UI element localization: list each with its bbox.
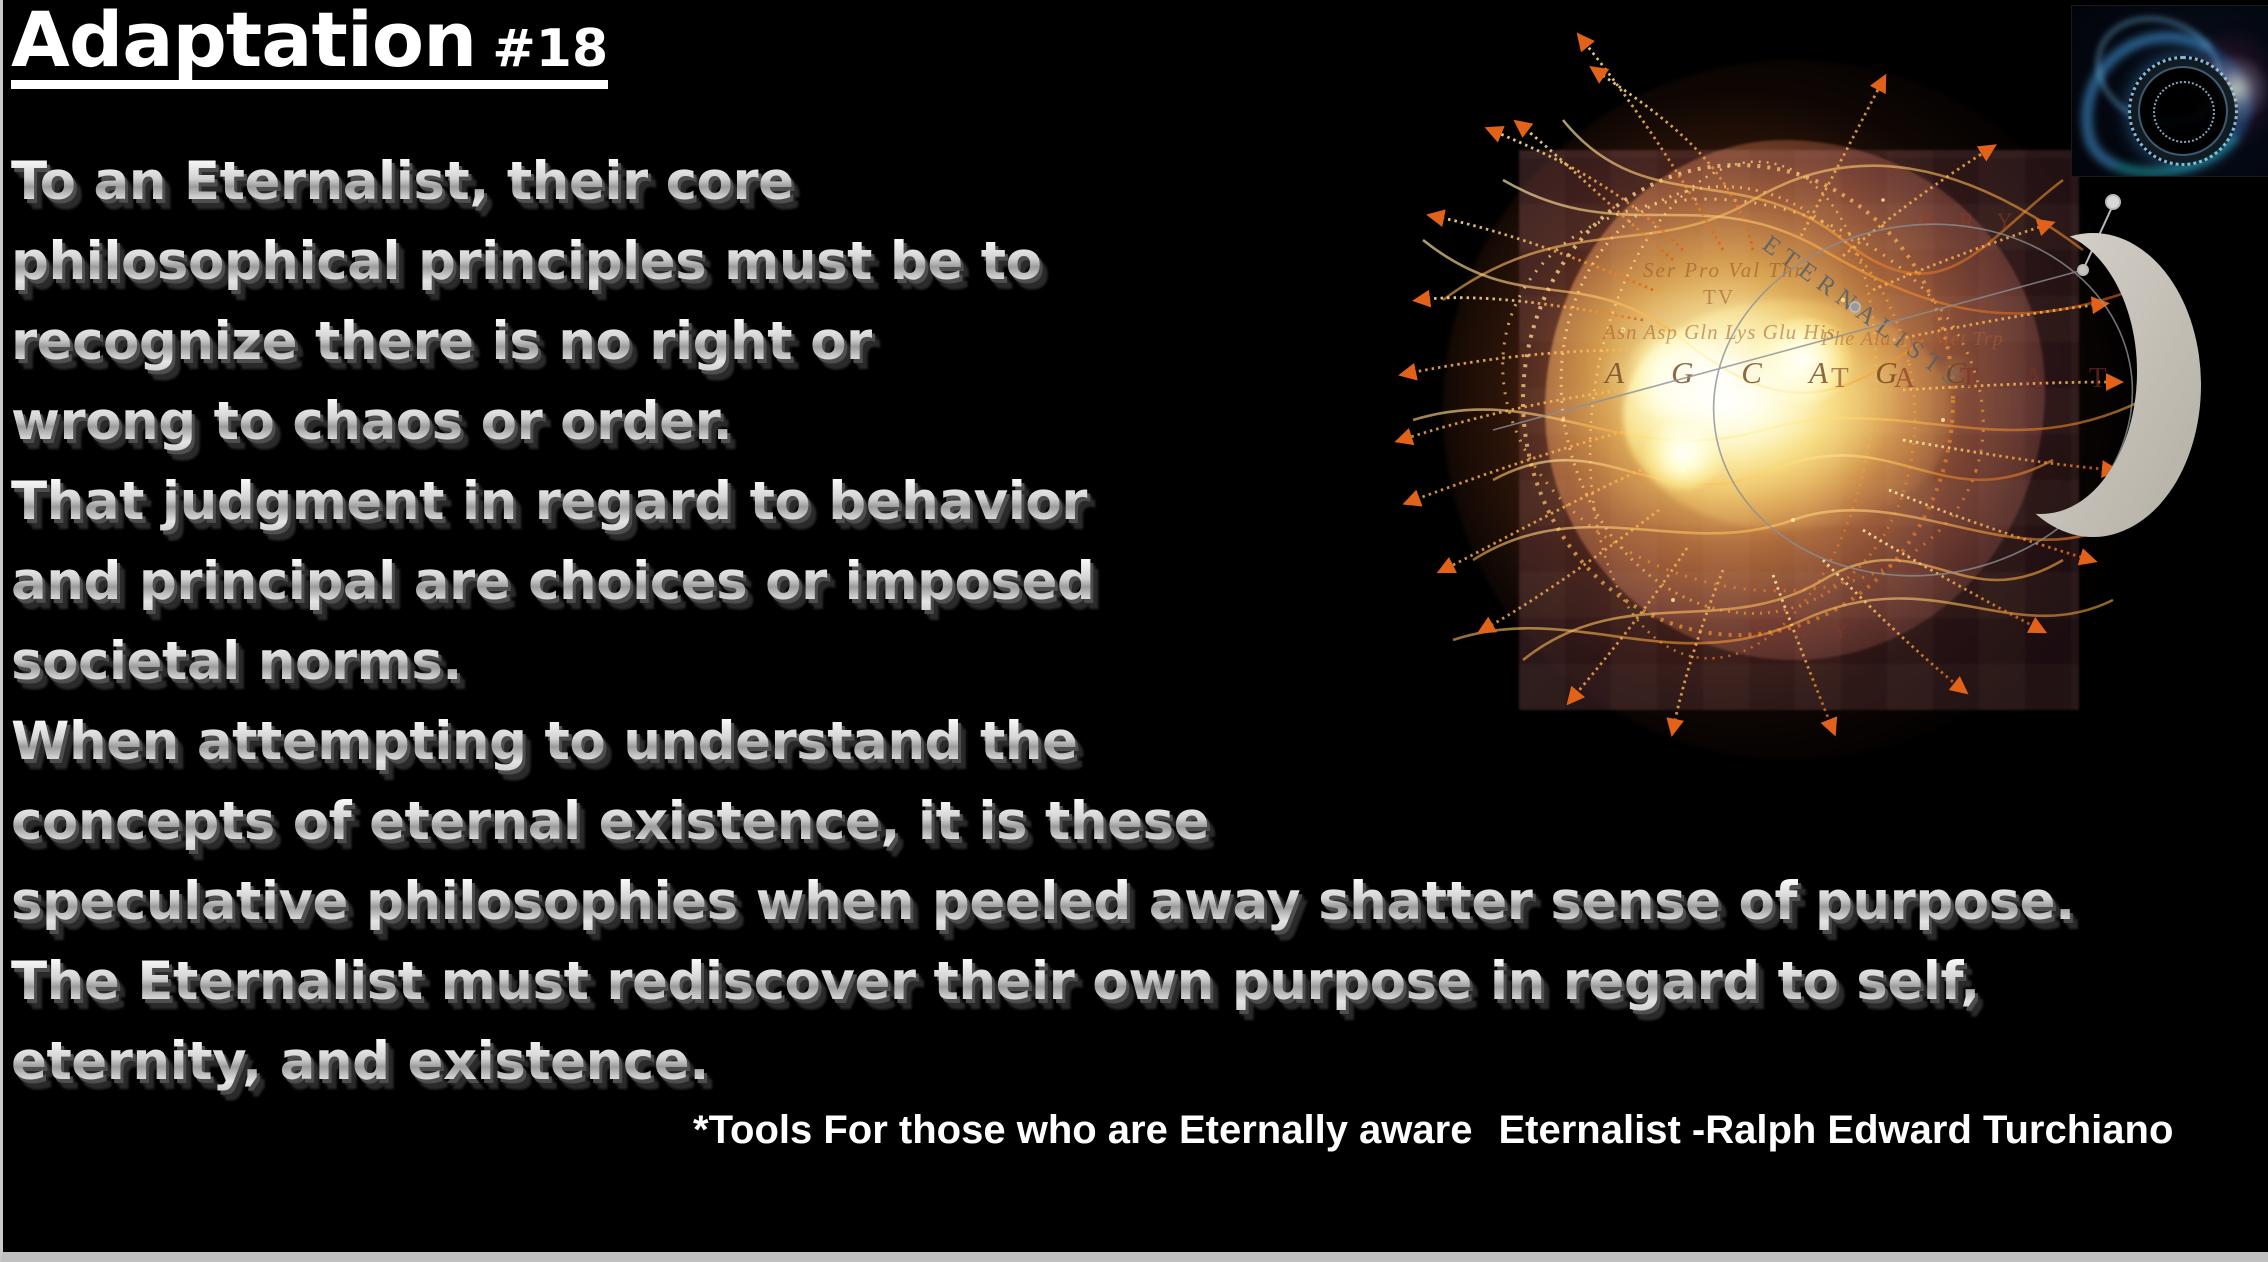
body-line: philosophical principles must be to (11, 222, 2261, 302)
slide-canvas: Adaptation#18 To an Eternalist, their co… (0, 0, 2268, 1262)
attribution-line: *Tools For those who are Eternally aware… (693, 1108, 2173, 1153)
body-line: eternity, and existence. (11, 1022, 2261, 1102)
body-text: To an Eternalist, their core philosophic… (11, 142, 2261, 1102)
title-underline-row: Adaptation#18 (11, 2, 608, 89)
title-main-text: Adaptation (11, 0, 476, 84)
attribution-byline: Eternalist -Ralph Edward Turchiano (1498, 1108, 2173, 1152)
body-line: concepts of eternal existence, it is the… (11, 782, 2261, 862)
body-line: societal norms. (11, 622, 2261, 702)
body-line: wrong to chaos or order. (11, 382, 2261, 462)
body-line: recognize there is no right or (11, 302, 2261, 382)
attribution-note: *Tools For those who are Eternally aware (693, 1108, 1472, 1152)
body-line: To an Eternalist, their core (11, 142, 2261, 222)
inset-mandala-inner-ring (2153, 81, 2215, 143)
body-line: The Eternalist must rediscover their own… (11, 942, 2261, 1022)
body-line: When attempting to understand the (11, 702, 2261, 782)
page-title: Adaptation#18 (11, 2, 608, 89)
body-line: and principal are choices or imposed (11, 542, 2261, 622)
title-number: #18 (492, 19, 608, 79)
body-line: That judgment in regard to behavior (11, 462, 2261, 542)
body-line: speculative philosophies when peeled awa… (11, 862, 2261, 942)
